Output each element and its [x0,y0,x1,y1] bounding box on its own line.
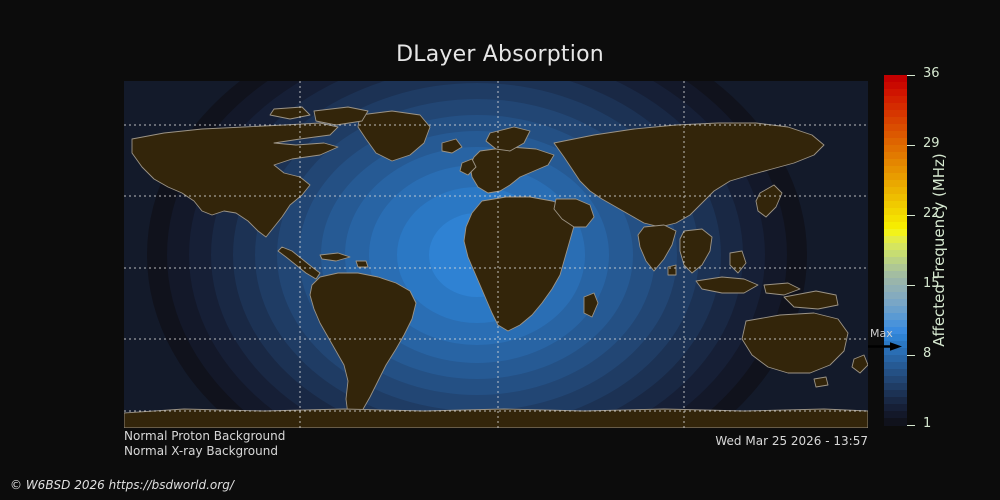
max-marker-label: Max [870,327,893,340]
timestamp: Wed Mar 25 2026 - 13:57 [560,434,868,448]
colorbar-tick-line [907,285,915,286]
map-canvas [124,81,868,428]
colorbar-tick-line [907,75,915,76]
page-title: DLayer Absorption [0,42,1000,67]
max-arrow-icon [868,342,902,351]
world-map[interactable] [124,81,868,428]
status-notes: Normal Proton Background Normal X-ray Ba… [124,429,285,459]
colorbar-tick-line [907,425,915,426]
xray-status: Normal X-ray Background [124,444,285,459]
colorbar-axis-label: Affected Frequency (MHz) [928,75,951,425]
max-marker: Max [866,327,914,353]
copyright: © W6BSD 2026 https://bsdworld.org/ [10,478,234,492]
colorbar-tick-line [907,145,915,146]
colorbar-tick-line [907,215,915,216]
proton-status: Normal Proton Background [124,429,285,444]
colorbar-tick-line [907,355,915,356]
